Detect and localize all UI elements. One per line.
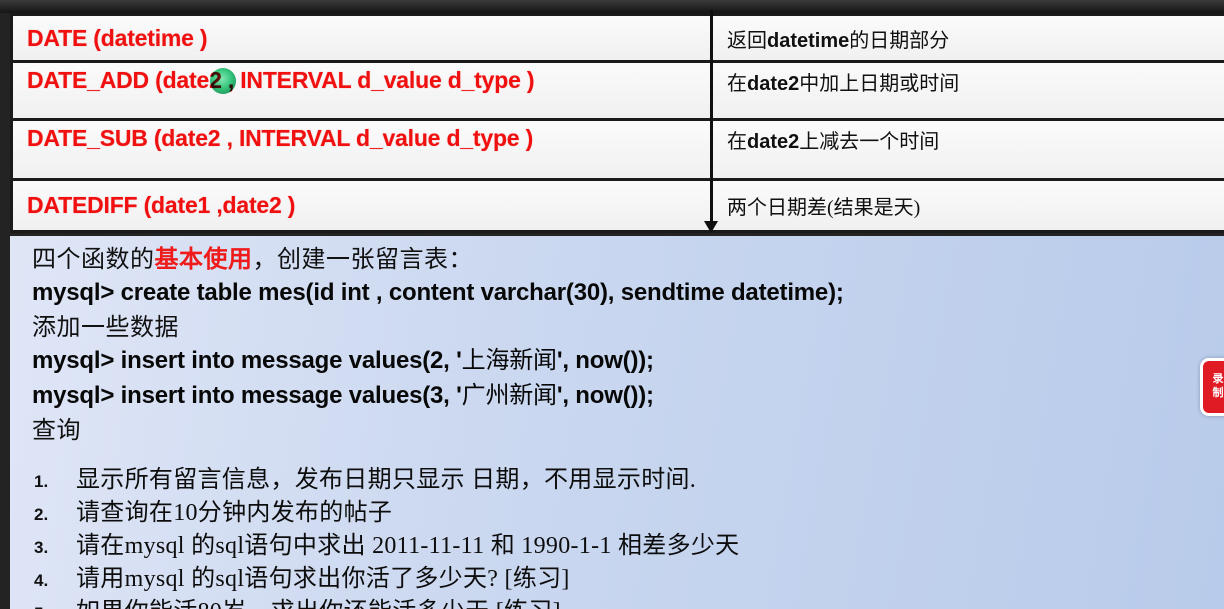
note-add-data: 添加一些数据: [32, 316, 1224, 349]
function-signature: DATE_ADD (date2 , INTERVAL d_value d_typ…: [27, 67, 534, 94]
table-cell-description: 两个日期差(结果是天): [713, 181, 1224, 230]
list-item-number: 5.: [32, 604, 76, 609]
function-description: 两个日期差(结果是天): [727, 191, 920, 220]
list-item-text: 显示所有留言信息，发布日期只显示 日期，不用显示时间.: [76, 459, 696, 494]
list-item-text: 请查询在10分钟内发布的帖子: [76, 492, 392, 527]
table-cell-description: 在date2上减去一个时间: [713, 121, 1224, 178]
date-functions-table: DATE (datetime ) 返回datetime的日期部分 DATE_AD…: [10, 13, 1224, 233]
note-query: 查询: [32, 419, 1224, 453]
function-description: 在date2上减去一个时间: [727, 125, 939, 154]
table-cell-description: 在date2中加上日期或时间: [713, 63, 1224, 118]
list-item: 1. 显示所有留言信息，发布日期只显示 日期，不用显示时间.: [32, 459, 1224, 492]
list-item: 4. 请用mysql 的sql语句求出你活了多少天? [练习]: [32, 558, 1224, 591]
table-cell-description: 返回datetime的日期部分: [713, 16, 1224, 60]
list-item: 5. 如果你能活80岁，求出你还能活多少天.[练习]: [32, 591, 1224, 609]
list-item-number: 2.: [32, 505, 76, 525]
heading-highlight: 基本使用: [155, 247, 253, 273]
function-description: 返回datetime的日期部分: [727, 24, 949, 53]
table-row: DATEDIFF (date1 ,date2 ) 两个日期差(结果是天): [13, 181, 1224, 233]
function-signature: DATE_SUB (date2 , INTERVAL d_value d_typ…: [27, 125, 533, 152]
panel-heading: 四个函数的基本使用，创建一张留言表：: [32, 246, 1224, 281]
table-cell-signature: DATE_SUB (date2 , INTERVAL d_value d_typ…: [13, 121, 713, 178]
table-row: DATE_SUB (date2 , INTERVAL d_value d_typ…: [13, 121, 1224, 181]
list-item-number: 3.: [32, 538, 76, 558]
question-list: 1. 显示所有留言信息，发布日期只显示 日期，不用显示时间. 2. 请查询在10…: [32, 459, 1224, 609]
table-cell-signature: DATE (datetime ): [13, 16, 713, 60]
list-item: 3. 请在mysql 的sql语句中求出 2011-11-11 和 1990-1…: [32, 525, 1224, 558]
screen-root: DATE (datetime ) 返回datetime的日期部分 DATE_AD…: [0, 0, 1224, 609]
code-create-table: mysql> create table mes(id int , content…: [32, 281, 1224, 316]
function-signature: DATE (datetime ): [27, 25, 207, 52]
column-divider-arrow-icon: [710, 10, 713, 222]
code-insert-1: mysql> insert into message values(2, '上海…: [32, 349, 1224, 384]
list-item-text: 请在mysql 的sql语句中求出 2011-11-11 和 1990-1-1 …: [76, 525, 739, 560]
list-item-number: 1.: [32, 472, 76, 492]
table-row: DATE_ADD (date2 , INTERVAL d_value d_typ…: [13, 63, 1224, 121]
function-signature: DATEDIFF (date1 ,date2 ): [27, 192, 295, 219]
list-item-number: 4.: [32, 571, 76, 591]
list-item: 2. 请查询在10分钟内发布的帖子: [32, 492, 1224, 525]
top-dark-bar: [0, 0, 1224, 13]
content-panel: 四个函数的基本使用，创建一张留言表： mysql> create table m…: [10, 236, 1224, 609]
recording-badge[interactable]: 录 制: [1200, 358, 1224, 416]
table-row: DATE (datetime ) 返回datetime的日期部分: [13, 16, 1224, 63]
list-item-text: 如果你能活80岁，求出你还能活多少天.[练习]: [76, 591, 561, 609]
list-item-text: 请用mysql 的sql语句求出你活了多少天? [练习]: [76, 558, 570, 593]
table-cell-signature: DATE_ADD (date2 , INTERVAL d_value d_typ…: [13, 63, 713, 118]
table-cell-signature: DATEDIFF (date1 ,date2 ): [13, 181, 713, 230]
function-description: 在date2中加上日期或时间: [727, 67, 959, 96]
code-insert-2: mysql> insert into message values(3, '广州…: [32, 384, 1224, 419]
recording-badge-line2: 制: [1213, 387, 1224, 401]
recording-badge-line1: 录: [1213, 373, 1224, 387]
